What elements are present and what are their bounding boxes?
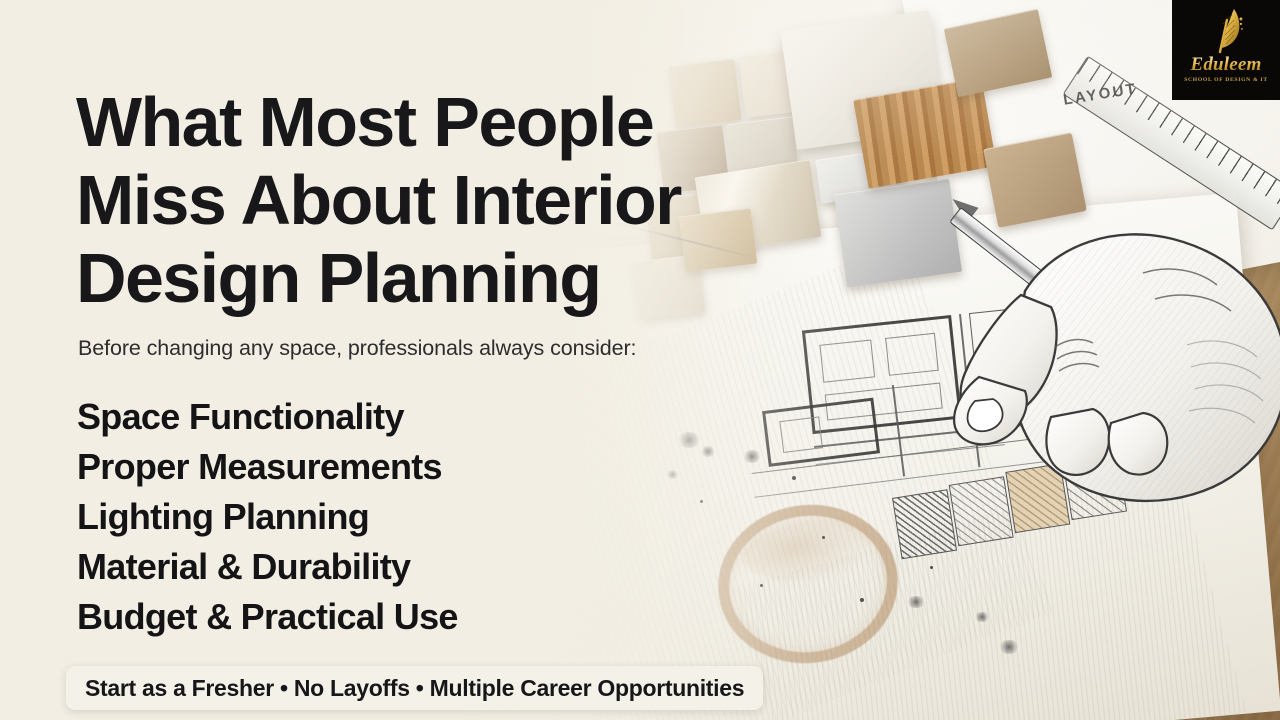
- consideration-list: Space Functionality Proper Measurements …: [77, 392, 697, 642]
- headline-line-1: What Most People: [76, 83, 776, 161]
- logo-tagline: SCHOOL OF DESIGN & IT: [1184, 77, 1268, 83]
- text-content: What Most People Miss About Interior Des…: [0, 0, 880, 720]
- logo-wordmark: Eduleem: [1190, 55, 1261, 74]
- list-item: Budget & Practical Use: [77, 592, 697, 642]
- career-banner: Start as a Fresher • No Layoffs • Multip…: [66, 666, 763, 710]
- career-banner-text: Start as a Fresher • No Layoffs • Multip…: [85, 675, 744, 702]
- poster-canvas: LAYOUT: [0, 0, 1280, 720]
- brand-logo-badge: Eduleem SCHOOL OF DESIGN & IT: [1172, 0, 1280, 100]
- list-item: Lighting Planning: [77, 492, 697, 542]
- list-item: Space Functionality: [77, 392, 697, 442]
- list-item: Material & Durability: [77, 542, 697, 592]
- page-title: What Most People Miss About Interior Des…: [76, 83, 776, 317]
- subtitle: Before changing any space, professionals…: [78, 336, 636, 361]
- headline-line-2: Miss About Interior: [76, 161, 776, 239]
- quill-feather-icon: [1203, 6, 1249, 56]
- list-item: Proper Measurements: [77, 442, 697, 492]
- headline-line-3: Design Planning: [76, 239, 776, 317]
